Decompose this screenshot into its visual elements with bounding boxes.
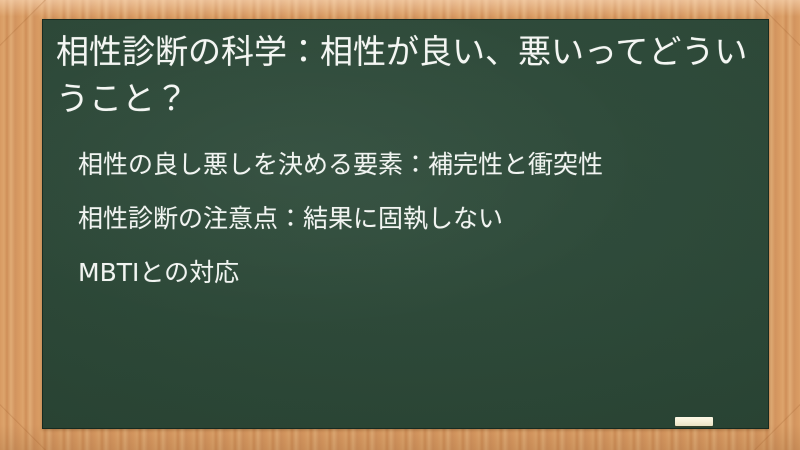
frame-miter-top-left [0, 0, 46, 46]
list-item: MBTIとの対応 [78, 258, 758, 288]
slide-title: 相性診断の科学：相性が良い、悪いってどういうこと？ [56, 28, 756, 122]
topic-list: 相性の良し悪しを決める要素：補完性と衝突性 相性診断の注意点：結果に固執しない … [78, 150, 758, 312]
chalkboard-surface: 相性診断の科学：相性が良い、悪いってどういうこと？ 相性の良し悪しを決める要素：… [42, 19, 769, 429]
frame-miter-bottom-left [0, 404, 46, 450]
chalkboard-content: 相性診断の科学：相性が良い、悪いってどういうこと？ 相性の良し悪しを決める要素：… [42, 19, 769, 429]
list-item: 相性の良し悪しを決める要素：補完性と衝突性 [78, 150, 758, 180]
chalk-stick-icon [675, 417, 713, 426]
list-item: 相性診断の注意点：結果に固執しない [78, 204, 758, 234]
chalkboard-slide: 相性診断の科学：相性が良い、悪いってどういうこと？ 相性の良し悪しを決める要素：… [0, 0, 800, 450]
